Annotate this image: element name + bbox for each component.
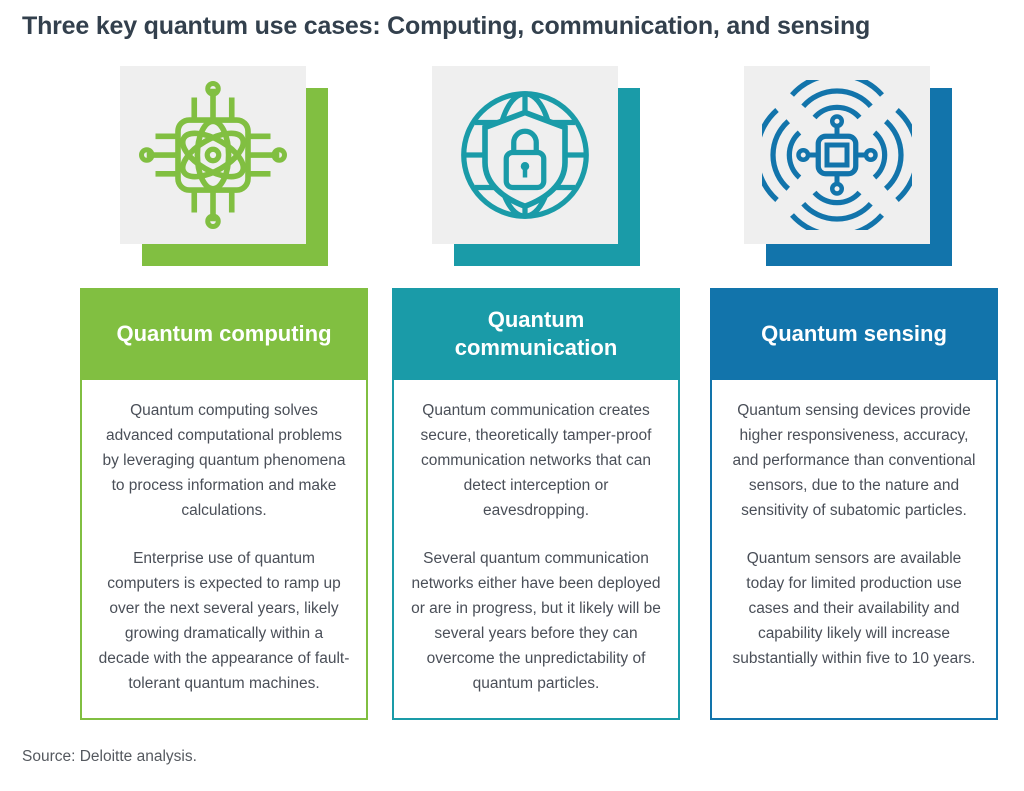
quantum-chip-atom-icon xyxy=(138,80,288,230)
icon-plate-quantum-communication xyxy=(432,66,618,244)
sensor-waves-chip-icon xyxy=(762,80,912,230)
card-quantum-computing: Quantum computing Quantum computing solv… xyxy=(80,288,368,720)
card-paragraph: Enterprise use of quantum computers is e… xyxy=(98,546,350,697)
source-note: Source: Deloitte analysis. xyxy=(22,748,197,766)
card-body-quantum-computing: Quantum computing solves advanced comput… xyxy=(80,380,368,720)
card-heading-quantum-computing: Quantum computing xyxy=(80,288,368,380)
card-quantum-sensing: Quantum sensing Quantum sensing devices … xyxy=(710,288,998,720)
card-paragraph: Quantum sensing devices provide higher r… xyxy=(728,398,980,524)
icon-plate-quantum-computing xyxy=(120,66,306,244)
icon-plate-quantum-sensing xyxy=(744,66,930,244)
card-paragraph: Quantum communication creates secure, th… xyxy=(410,398,662,524)
card-quantum-communication: Quantum communication Quantum communicat… xyxy=(392,288,680,720)
card-paragraph: Quantum sensors are available today for … xyxy=(728,546,980,672)
page-title: Three key quantum use cases: Computing, … xyxy=(22,12,870,41)
card-body-quantum-sensing: Quantum sensing devices provide higher r… xyxy=(710,380,998,720)
icon-block-quantum-sensing xyxy=(744,66,954,266)
icon-block-quantum-communication xyxy=(432,66,642,266)
card-heading-quantum-sensing: Quantum sensing xyxy=(710,288,998,380)
icon-block-quantum-computing xyxy=(120,66,330,266)
globe-shield-lock-icon xyxy=(450,80,600,230)
card-body-quantum-communication: Quantum communication creates secure, th… xyxy=(392,380,680,720)
card-paragraph: Several quantum communication networks e… xyxy=(410,546,662,697)
card-heading-quantum-communication: Quantum communication xyxy=(392,288,680,380)
icon-row xyxy=(0,66,1024,271)
card-paragraph: Quantum computing solves advanced comput… xyxy=(98,398,350,524)
use-case-cards: Quantum computing Quantum computing solv… xyxy=(0,288,1024,722)
